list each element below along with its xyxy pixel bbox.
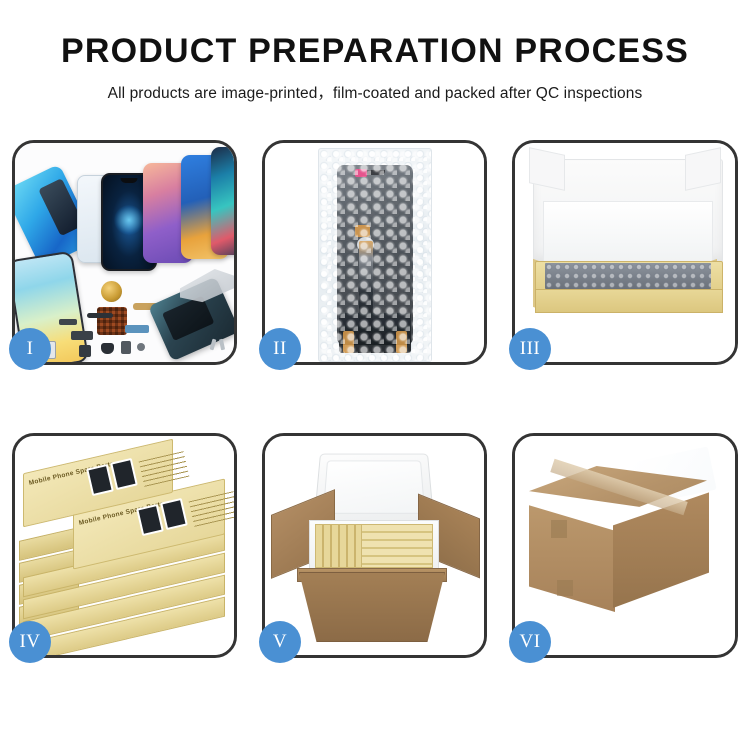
page-title: PRODUCT PREPARATION PROCESS [0, 34, 750, 70]
step-image-6 [515, 436, 735, 655]
page-subtitle: All products are image-printed，film-coat… [0, 81, 750, 103]
step-panel-6[interactable]: VI [512, 433, 738, 658]
step-panel-1[interactable]: I [12, 140, 237, 365]
flex-connector-icon [355, 225, 370, 237]
phone-screen-icon [211, 147, 234, 255]
packing-tape-icon [557, 580, 573, 596]
step-badge-6: VI [509, 621, 551, 663]
step-panel-3[interactable]: III [512, 140, 738, 365]
flex-cable-icon [71, 331, 93, 340]
step-panel-4[interactable]: Mobile Phone Spare Parts Mobile Phone Sp… [12, 433, 237, 658]
box-flap-icon [529, 147, 565, 191]
step-badge-5: V [259, 621, 301, 663]
step-image-1 [15, 143, 234, 362]
flex-connector-icon [339, 313, 411, 353]
step-badge-3: III [509, 328, 551, 370]
step-image-4: Mobile Phone Spare Parts Mobile Phone Sp… [15, 436, 234, 655]
vibration-motor-icon [101, 281, 122, 302]
bubble-wrap-icon [318, 148, 432, 362]
gray-foam-icon [545, 263, 711, 289]
small-part-icon [79, 345, 91, 357]
box-stack: Mobile Phone Spare Parts Mobile Phone Sp… [17, 450, 233, 646]
header: PRODUCT PREPARATION PROCESS All products… [0, 0, 750, 103]
white-foam-icon [543, 201, 713, 267]
small-part-icon [101, 343, 114, 354]
small-part-icon [121, 341, 131, 354]
small-part-icon [59, 319, 77, 325]
label-sticker-icon [355, 169, 367, 177]
screw-icon [211, 339, 229, 353]
step-badge-1: I [9, 328, 51, 370]
small-part-icon [137, 343, 145, 351]
step-image-2 [265, 143, 484, 362]
packing-tape-icon [551, 520, 567, 538]
box-flap-icon [685, 147, 721, 191]
step-panel-5[interactable]: V [262, 433, 487, 658]
flex-cable-icon [87, 313, 113, 318]
step-panel-2[interactable]: II [262, 140, 487, 365]
step-image-5 [265, 436, 484, 655]
steps-grid: I II [12, 140, 738, 683]
product-preparation-infographic: PRODUCT PREPARATION PROCESS All products… [0, 0, 750, 750]
step-badge-4: IV [9, 621, 51, 663]
kraft-box-icon [535, 289, 723, 313]
connector-grid-icon [97, 307, 127, 335]
retail-box-icon [361, 524, 433, 568]
open-carton-icon [299, 572, 445, 642]
step-badge-2: II [259, 328, 301, 370]
flex-cable-icon [125, 325, 149, 333]
step-image-3 [515, 143, 735, 362]
